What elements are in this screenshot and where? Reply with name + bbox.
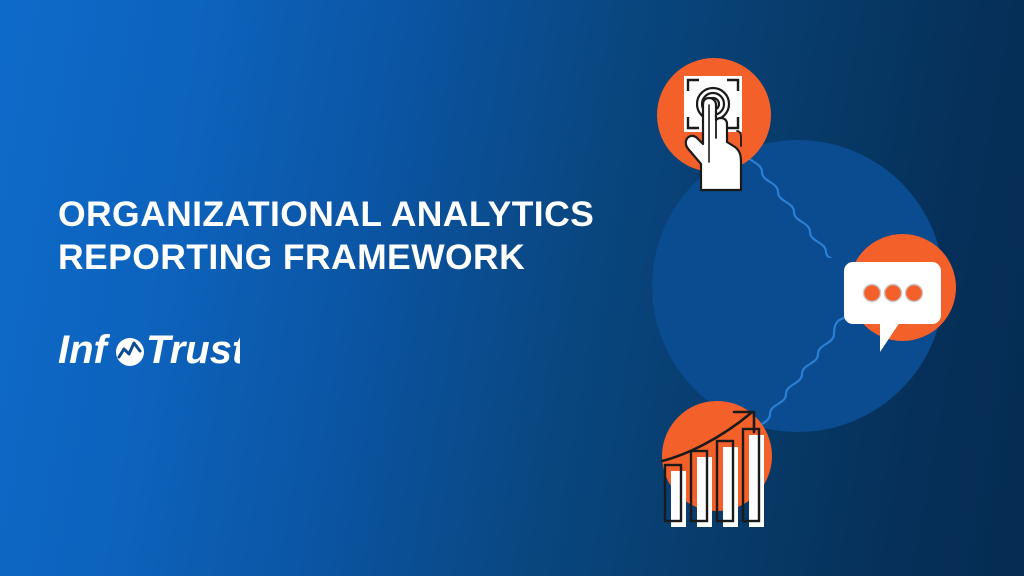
logo-chart-circle-icon (116, 338, 144, 366)
title-block: ORGANIZATIONAL ANALYTICS REPORTING FRAME… (58, 193, 618, 279)
title-slide: ORGANIZATIONAL ANALYTICS REPORTING FRAME… (0, 0, 1024, 576)
infotrust-logo-mark: Inf Trust (58, 327, 240, 373)
conversation-bubble-icon (849, 234, 956, 341)
slide-title: ORGANIZATIONAL ANALYTICS REPORTING FRAME… (58, 193, 618, 279)
logo-text-part-2: Trust (146, 328, 240, 372)
growth-chart-icon (662, 401, 772, 511)
logo-text-part-1: Inf (58, 328, 111, 372)
touch-point-icon (657, 58, 771, 172)
conversation-bubble-icon-art (836, 234, 966, 364)
growth-chart-icon-art (646, 395, 786, 535)
infotrust-logo: Inf Trust (58, 327, 240, 373)
touch-point-icon-art (657, 58, 771, 218)
